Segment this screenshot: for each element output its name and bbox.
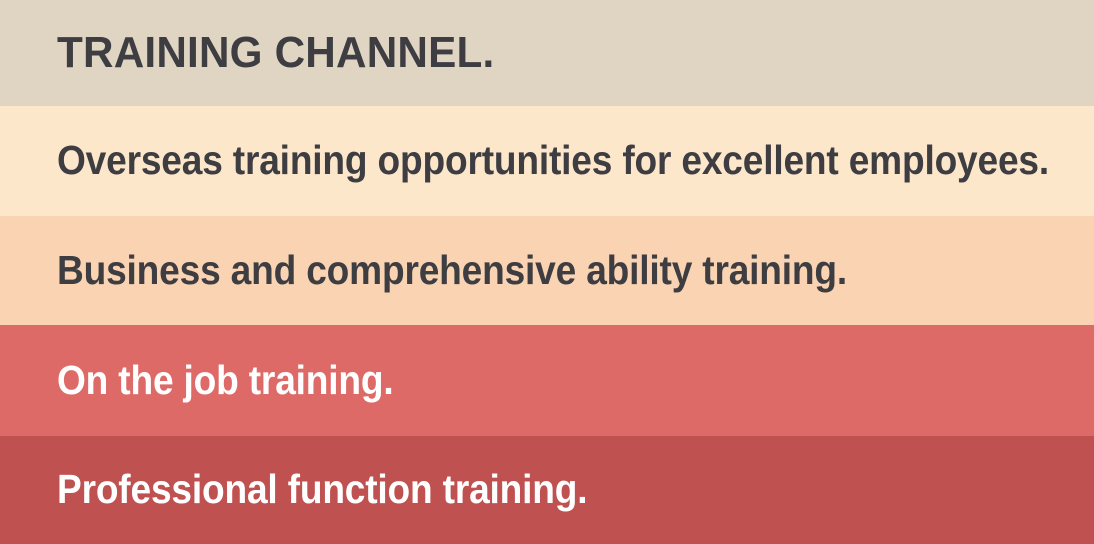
list-item-on-the-job-training[interactable]: On the job training. (0, 325, 1094, 436)
training-channel-infographic: TRAINING CHANNEL. Overseas training oppo… (0, 0, 1094, 544)
list-item-overseas-training[interactable]: Overseas training opportunities for exce… (0, 106, 1094, 216)
list-item-label: Overseas training opportunities for exce… (57, 139, 1049, 182)
list-item-label: Professional function training. (57, 468, 587, 511)
page-title: TRAINING CHANNEL. (57, 30, 494, 76)
list-item-label: On the job training. (57, 359, 393, 402)
list-item-professional-function-training[interactable]: Professional function training. (0, 436, 1094, 544)
list-item-label: Business and comprehensive ability train… (57, 249, 847, 292)
list-item-business-ability-training[interactable]: Business and comprehensive ability train… (0, 216, 1094, 325)
infographic-title-band: TRAINING CHANNEL. (0, 0, 1094, 106)
